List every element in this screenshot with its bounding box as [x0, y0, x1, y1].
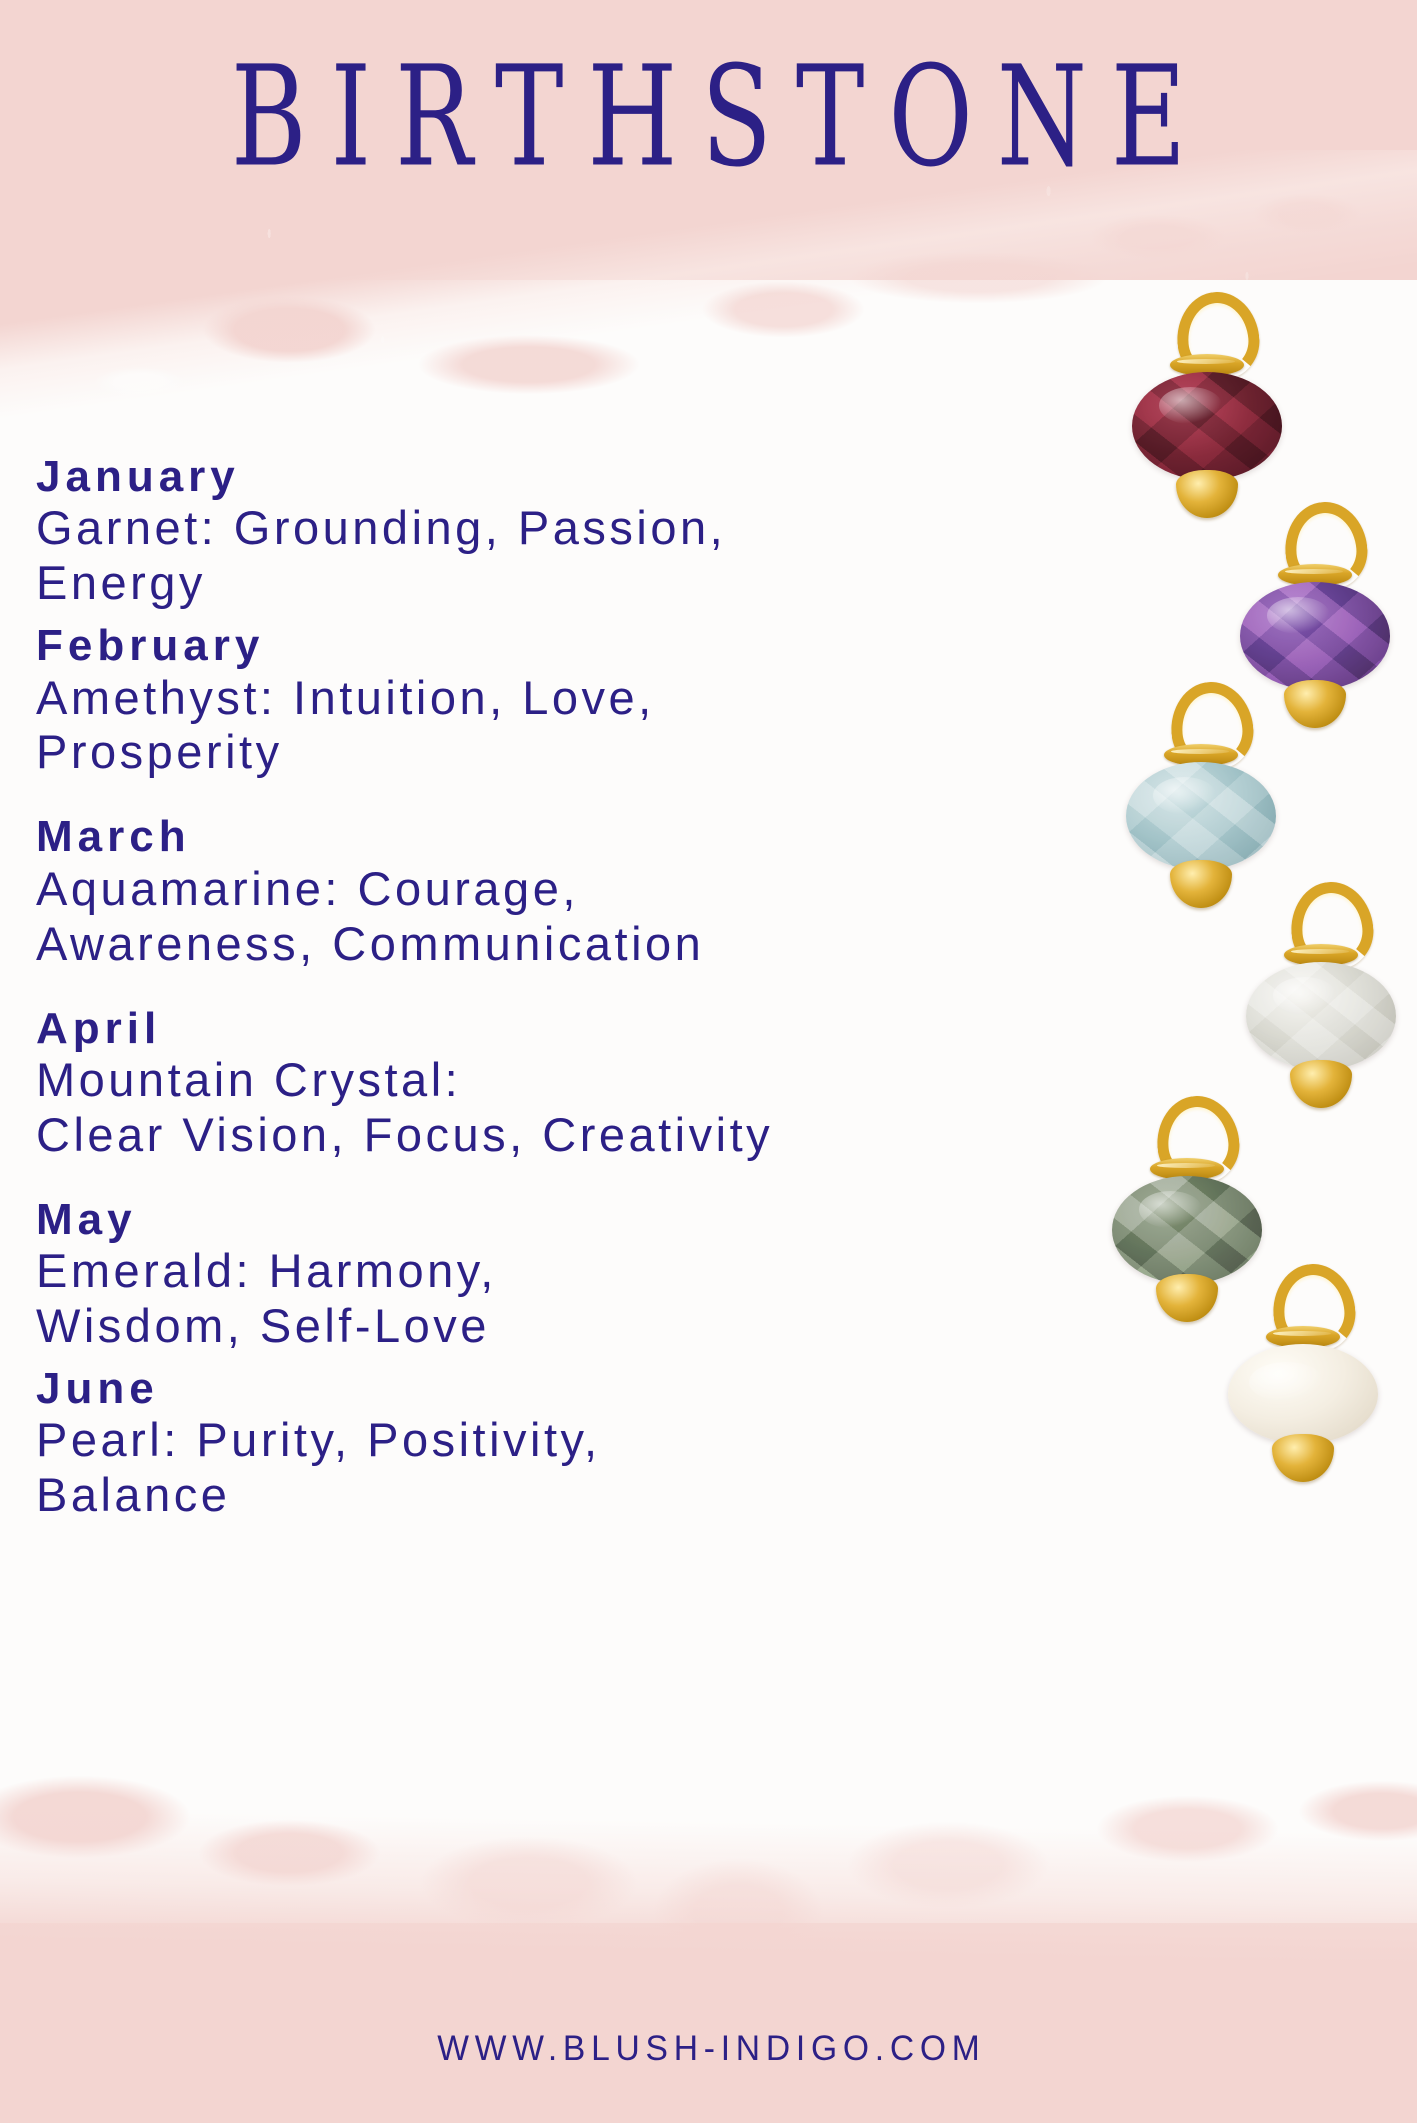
stone-description-january: Garnet: Grounding, Passion, Energy: [36, 501, 986, 611]
stone-description-june: Pearl: Purity, Positivity, Balance: [36, 1413, 986, 1523]
page-title: BIRTHSTONE: [57, 48, 1361, 187]
gemstone-bead: [1240, 582, 1390, 690]
month-label-may: May: [36, 1195, 986, 1244]
list-item: April Mountain Crystal: Clear Vision, Fo…: [36, 1004, 986, 1163]
list-item: March Aquamarine: Courage, Awareness, Co…: [36, 812, 986, 971]
list-item: January Garnet: Grounding, Passion, Ener…: [36, 452, 986, 611]
gold-bead-cap: [1176, 470, 1238, 518]
aquamarine-charm: [1126, 680, 1276, 908]
gemstone-bead: [1132, 372, 1282, 480]
gold-bead-cap: [1272, 1434, 1334, 1482]
gemstone-bead: [1246, 962, 1396, 1070]
list-item: May Emerald: Harmony, Wisdom, Self-Love: [36, 1195, 986, 1354]
month-label-february: February: [36, 621, 986, 670]
gold-bead-cap: [1170, 860, 1232, 908]
mountain-crystal-charm: [1246, 880, 1396, 1108]
website-url[interactable]: WWW.BLUSH-INDIGO.COM: [28, 2029, 1388, 2069]
stone-description-february: Amethyst: Intuition, Love, Prosperity: [36, 671, 986, 781]
gemstone-bead: [1228, 1344, 1378, 1444]
month-label-june: June: [36, 1364, 986, 1413]
pearl-charm: [1228, 1262, 1378, 1482]
garnet-charm: [1132, 290, 1282, 518]
stone-description-may: Emerald: Harmony, Wisdom, Self-Love: [36, 1244, 986, 1354]
list-item: June Pearl: Purity, Positivity, Balance: [36, 1364, 986, 1523]
gold-bead-cap: [1290, 1060, 1352, 1108]
month-label-april: April: [36, 1004, 986, 1053]
gemstone-bead: [1126, 762, 1276, 870]
birthstone-list: January Garnet: Grounding, Passion, Ener…: [36, 452, 986, 1523]
gold-bead-cap: [1284, 680, 1346, 728]
stone-description-march: Aquamarine: Courage, Awareness, Communic…: [36, 862, 986, 972]
month-label-january: January: [36, 452, 986, 501]
brush-bottom-texture: [0, 1763, 1417, 2063]
list-item: February Amethyst: Intuition, Love, Pros…: [36, 621, 986, 780]
gold-bead-cap: [1156, 1274, 1218, 1322]
month-label-march: March: [36, 812, 986, 861]
birthstone-poster: BIRTHSTONE January Garnet: Grounding, Pa…: [0, 0, 1417, 2123]
stone-description-april: Mountain Crystal: Clear Vision, Focus, C…: [36, 1053, 986, 1163]
brush-bottom-edge: [0, 1763, 1417, 2063]
